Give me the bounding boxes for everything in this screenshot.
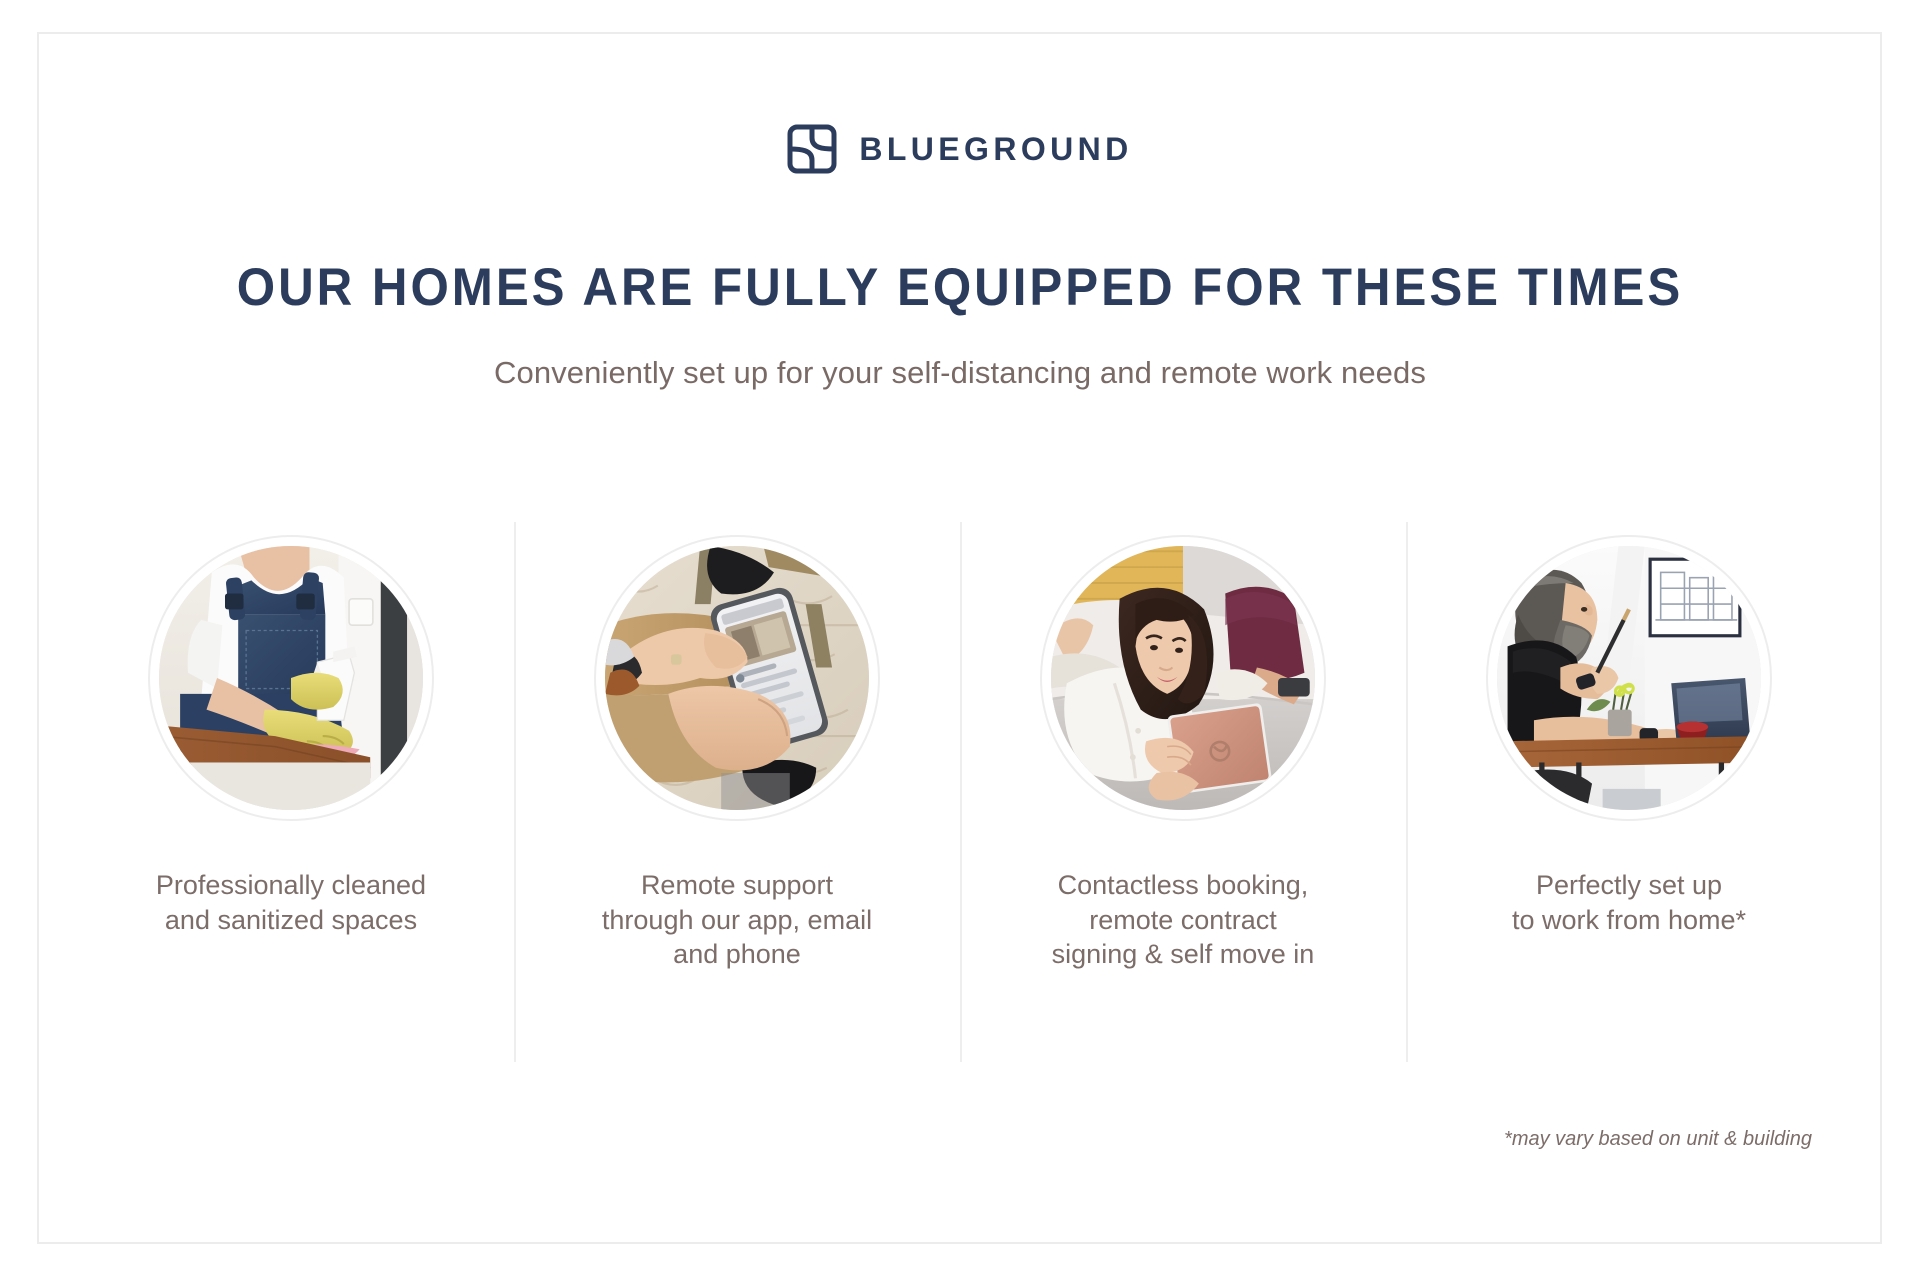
infographic-page: BLUEGROUND OUR HOMES ARE FULLY EQUIPPED … xyxy=(0,0,1920,1280)
work-from-home-desk-photo xyxy=(1497,546,1761,810)
brand-name: BLUEGROUND xyxy=(859,133,1132,165)
blueground-square-mark-icon xyxy=(787,124,837,174)
photo-ring xyxy=(1486,535,1772,821)
feature-caption: Perfectly set up to work from home* xyxy=(1512,868,1746,937)
photo-ring xyxy=(594,535,880,821)
feature-item: Perfectly set up to work from home* xyxy=(1406,522,1852,1062)
brand-logo: BLUEGROUND xyxy=(0,124,1920,174)
cleaning-professional-photo xyxy=(159,546,423,810)
feature-caption: Professionally cleaned and sanitized spa… xyxy=(156,868,426,937)
feature-item: Contactless booking, remote contract sig… xyxy=(960,522,1406,1062)
feature-caption: Remote support through our app, email an… xyxy=(602,868,872,972)
feature-list: Professionally cleaned and sanitized spa… xyxy=(68,522,1852,1062)
page-title: OUR HOMES ARE FULLY EQUIPPED FOR THESE T… xyxy=(67,257,1853,318)
contactless-booking-tablet-photo xyxy=(1051,546,1315,810)
photo-ring xyxy=(1040,535,1326,821)
page-subtitle: Conveniently set up for your self-distan… xyxy=(0,355,1920,391)
remote-support-phone-photo xyxy=(605,546,869,810)
footnote-disclaimer: *may vary based on unit & building xyxy=(1504,1128,1812,1151)
feature-item: Professionally cleaned and sanitized spa… xyxy=(68,522,514,1062)
feature-item: Remote support through our app, email an… xyxy=(514,522,960,1062)
photo-ring xyxy=(148,535,434,821)
feature-caption: Contactless booking, remote contract sig… xyxy=(1052,868,1315,972)
